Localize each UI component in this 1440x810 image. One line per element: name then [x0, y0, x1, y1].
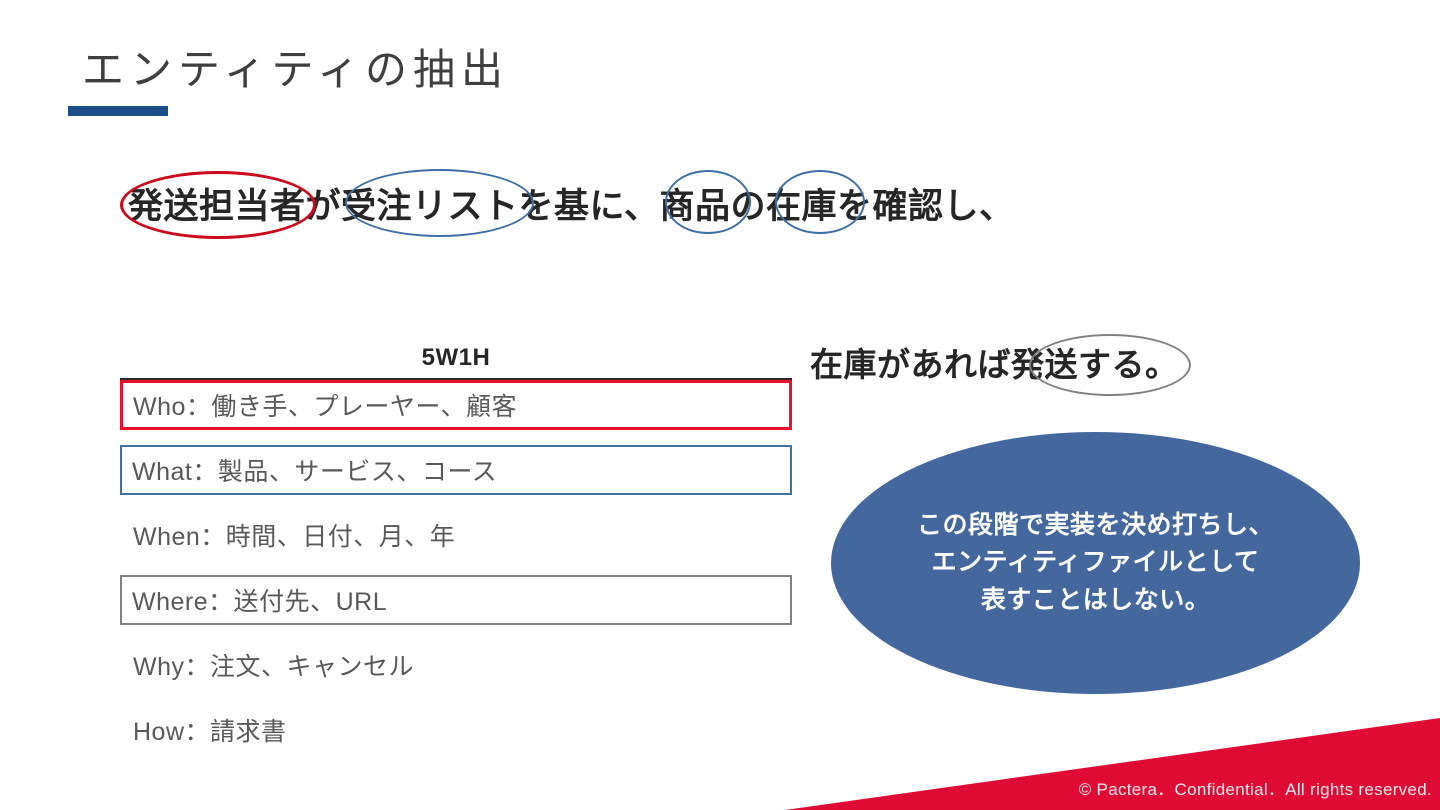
process-sentence-line-1: 発送担当者が受注リストを基に、商品の在庫を確認し、	[128, 178, 1014, 229]
table-row: Where：送付先、URL	[120, 575, 792, 625]
row-spacer	[120, 495, 792, 510]
table-row: Why：注文、キャンセル	[120, 640, 792, 690]
row-spacer	[120, 625, 792, 640]
table-5w1h: 5W1H Who：働き手、プレーヤー、顧客 What：製品、サービス、コース W…	[120, 344, 792, 755]
page-title: エンティティの抽出	[82, 36, 509, 97]
row-spacer	[120, 690, 792, 705]
process-sentence-line-2: 在庫があれば発送する。	[810, 338, 1179, 386]
callout-text: この段階で実装を決め打ちし、 エンティティファイルとして 表すことはしない。	[917, 507, 1274, 620]
slide-canvas: エンティティの抽出 発送担当者が受注リストを基に、商品の在庫を確認し、 在庫があ…	[0, 0, 1440, 810]
table-row: How：請求書	[120, 705, 792, 755]
row-spacer	[120, 430, 792, 445]
footer-copyright: © Pactera．Confidential．All rights reserv…	[1079, 775, 1432, 800]
table-header-label: 5W1H	[120, 344, 792, 378]
row-spacer	[120, 560, 792, 575]
table-row: Who：働き手、プレーヤー、顧客	[120, 380, 792, 430]
table-row: When：時間、日付、月、年	[120, 510, 792, 560]
table-row: What：製品、サービス、コース	[120, 445, 792, 495]
callout-ellipse: この段階で実装を決め打ちし、 エンティティファイルとして 表すことはしない。	[831, 432, 1360, 694]
title-accent-bar	[68, 106, 168, 116]
